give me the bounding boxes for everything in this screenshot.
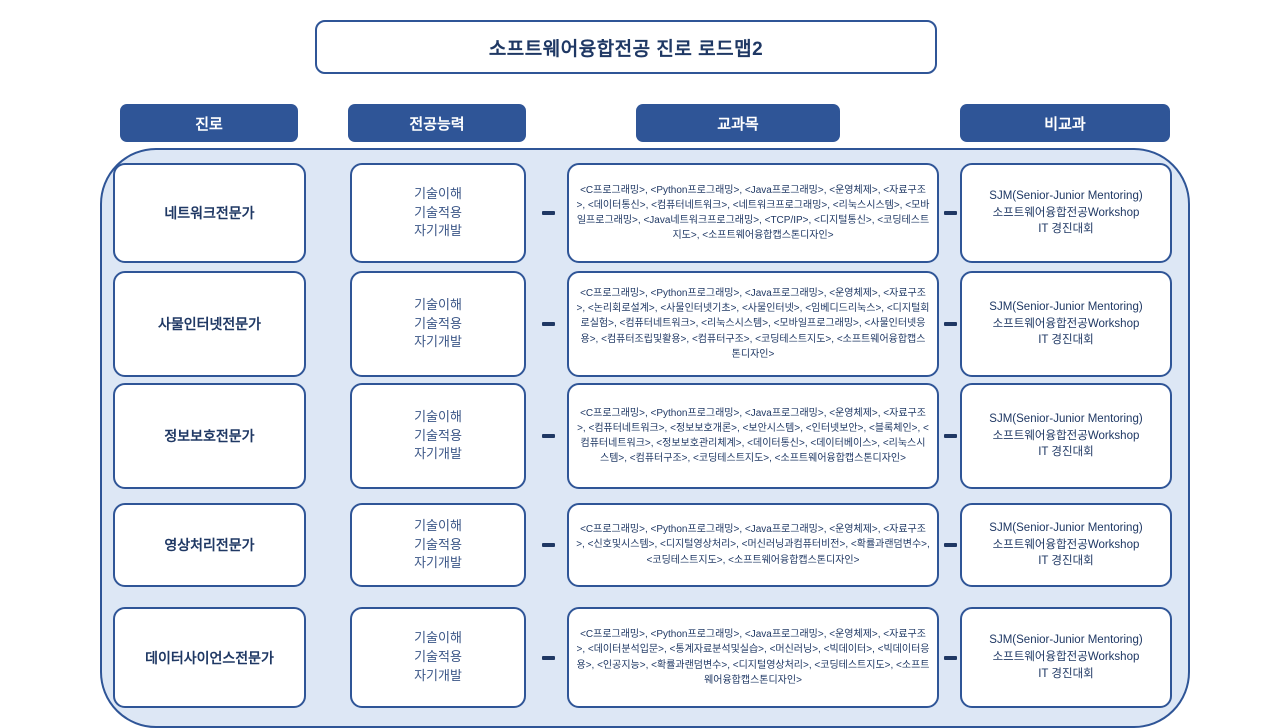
connector-dash-icon: [542, 656, 555, 660]
connector-dash-icon: [542, 434, 555, 438]
course-list: <C프로그래밍>, <Python프로그래밍>, <Java프로그래밍>, <운…: [569, 282, 937, 366]
career-label: 영상처리전문가: [164, 535, 254, 555]
career-box-1[interactable]: 사물인터넷전문가: [113, 271, 306, 377]
course-box-4[interactable]: <C프로그래밍>, <Python프로그래밍>, <Java프로그래밍>, <운…: [567, 607, 939, 708]
course-list: <C프로그래밍>, <Python프로그래밍>, <Java프로그래밍>, <운…: [569, 518, 937, 572]
connector-dash-icon: [944, 543, 957, 547]
extracurricular-box-3[interactable]: SJM(Senior-Junior Mentoring) 소프트웨어융합전공Wo…: [960, 503, 1172, 587]
extracurricular-label: SJM(Senior-Junior Mentoring) 소프트웨어융합전공Wo…: [989, 188, 1142, 238]
career-label: 정보보호전문가: [164, 426, 254, 446]
extracurricular-box-0[interactable]: SJM(Senior-Junior Mentoring) 소프트웨어융합전공Wo…: [960, 163, 1172, 263]
career-label: 네트워크전문가: [164, 203, 254, 223]
career-box-4[interactable]: 데이터사이언스전문가: [113, 607, 306, 708]
connector-dash-icon: [542, 322, 555, 326]
extracurricular-label: SJM(Senior-Junior Mentoring) 소프트웨어융합전공Wo…: [989, 299, 1142, 349]
career-box-2[interactable]: 정보보호전문가: [113, 383, 306, 489]
connector-dash-icon: [944, 656, 957, 660]
course-list: <C프로그래밍>, <Python프로그래밍>, <Java프로그래밍>, <운…: [569, 402, 937, 471]
course-box-2[interactable]: <C프로그래밍>, <Python프로그래밍>, <Java프로그래밍>, <운…: [567, 383, 939, 489]
ability-box-4[interactable]: 기술이해 기술적용 자기개발: [350, 607, 526, 708]
career-label: 데이터사이언스전문가: [145, 648, 274, 668]
course-list: <C프로그래밍>, <Python프로그래밍>, <Java프로그래밍>, <운…: [569, 179, 937, 248]
ability-label: 기술이해 기술적용 자기개발: [414, 629, 462, 686]
connector-dash-icon: [542, 211, 555, 215]
ability-label: 기술이해 기술적용 자기개발: [414, 517, 462, 574]
roadmap-rows: 네트워크전문가기술이해 기술적용 자기개발<C프로그래밍>, <Python프로…: [0, 0, 1280, 720]
ability-box-3[interactable]: 기술이해 기술적용 자기개발: [350, 503, 526, 587]
ability-label: 기술이해 기술적용 자기개발: [414, 185, 462, 242]
ability-box-1[interactable]: 기술이해 기술적용 자기개발: [350, 271, 526, 377]
extracurricular-label: SJM(Senior-Junior Mentoring) 소프트웨어융합전공Wo…: [989, 632, 1142, 682]
career-label: 사물인터넷전문가: [158, 314, 261, 334]
connector-dash-icon: [944, 322, 957, 326]
extracurricular-label: SJM(Senior-Junior Mentoring) 소프트웨어융합전공Wo…: [989, 411, 1142, 461]
career-box-0[interactable]: 네트워크전문가: [113, 163, 306, 263]
course-box-0[interactable]: <C프로그래밍>, <Python프로그래밍>, <Java프로그래밍>, <운…: [567, 163, 939, 263]
course-box-1[interactable]: <C프로그래밍>, <Python프로그래밍>, <Java프로그래밍>, <운…: [567, 271, 939, 377]
ability-label: 기술이해 기술적용 자기개발: [414, 408, 462, 465]
course-list: <C프로그래밍>, <Python프로그래밍>, <Java프로그래밍>, <운…: [569, 623, 937, 692]
extracurricular-box-4[interactable]: SJM(Senior-Junior Mentoring) 소프트웨어융합전공Wo…: [960, 607, 1172, 708]
connector-dash-icon: [944, 434, 957, 438]
connector-dash-icon: [542, 543, 555, 547]
extracurricular-box-1[interactable]: SJM(Senior-Junior Mentoring) 소프트웨어융합전공Wo…: [960, 271, 1172, 377]
career-box-3[interactable]: 영상처리전문가: [113, 503, 306, 587]
ability-label: 기술이해 기술적용 자기개발: [414, 296, 462, 353]
connector-dash-icon: [944, 211, 957, 215]
ability-box-2[interactable]: 기술이해 기술적용 자기개발: [350, 383, 526, 489]
extracurricular-box-2[interactable]: SJM(Senior-Junior Mentoring) 소프트웨어융합전공Wo…: [960, 383, 1172, 489]
course-box-3[interactable]: <C프로그래밍>, <Python프로그래밍>, <Java프로그래밍>, <운…: [567, 503, 939, 587]
ability-box-0[interactable]: 기술이해 기술적용 자기개발: [350, 163, 526, 263]
extracurricular-label: SJM(Senior-Junior Mentoring) 소프트웨어융합전공Wo…: [989, 520, 1142, 570]
